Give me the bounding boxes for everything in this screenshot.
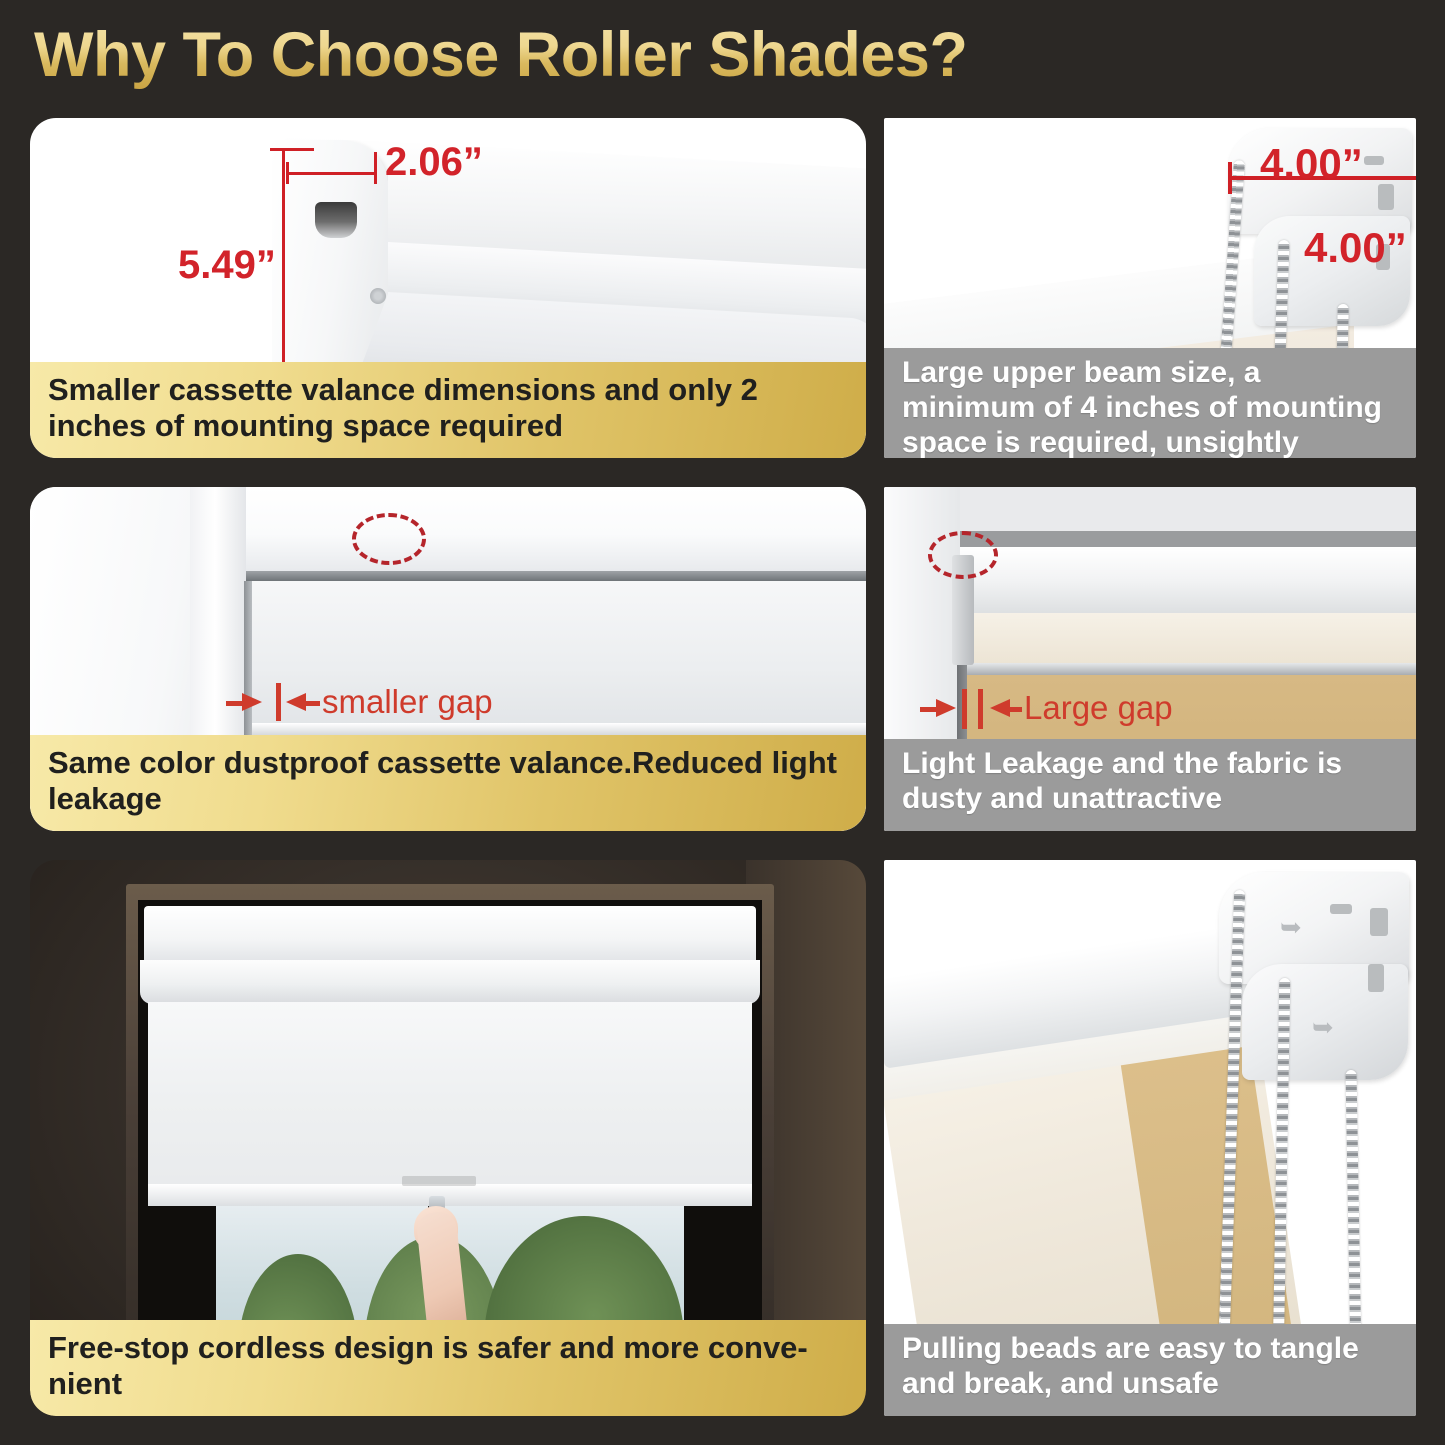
panel-3-caption-text: Same color dustproof cassette valance.Re… (48, 745, 848, 817)
panel-6-caption-text: Pulling beads are easy to tangle and bre… (902, 1332, 1398, 1402)
panel-light-leakage: Large gap Light Leakage and the fabric i… (884, 487, 1416, 831)
panel-small-cassette: 5.49” 2.06” Smaller cassette valance dim… (30, 118, 866, 458)
panel-6-caption: Pulling beads are easy to tangle and bre… (884, 1324, 1416, 1416)
valance-bottom (140, 960, 760, 1004)
panel-4-caption: Light Leakage and the fabric is dusty an… (884, 739, 1416, 831)
brand-logo (402, 1176, 476, 1186)
roller-shade-fabric (148, 1002, 752, 1198)
dimension-height-label: 5.49” (178, 243, 276, 288)
wall-top (884, 487, 1416, 531)
bracket-notch-2 (1378, 184, 1394, 210)
panel-3-caption: Same color dustproof cassette valance.Re… (30, 735, 866, 831)
shade-hem-bar (148, 1184, 752, 1206)
dim-width-tick-right (374, 152, 377, 184)
gap-arrow-right-icon (242, 693, 262, 711)
valance-head-rail (246, 571, 866, 581)
dim-width-tick-left (1228, 162, 1232, 194)
gap-arrow-left-icon (286, 693, 306, 711)
valance-top (144, 906, 756, 966)
bracket-arrow-icon-2: ➥ (1312, 1012, 1334, 1043)
dimension-width-label: 2.06” (385, 140, 483, 185)
dim-height-tick-top (270, 148, 314, 151)
panel-1-caption-text: Smaller cassette valance dimensions and … (48, 372, 848, 444)
page-title: Why To Choose Roller Shades? (34, 19, 967, 91)
header-bar: Why To Choose Roller Shades? (0, 0, 1445, 110)
dim-width-tick-left (286, 162, 289, 184)
gap-arrow-tail-right (1008, 707, 1022, 712)
bracket-arrow-icon-1: ➥ (1280, 912, 1302, 943)
end-cap-screw (370, 288, 386, 304)
gap-label: smaller gap (322, 683, 493, 721)
panel-pulling-beads: ➥ ➥ Pulling beads are easy to tangle and… (884, 860, 1416, 1416)
leakage-highlight-icon (928, 531, 998, 579)
dim-width-line (286, 172, 376, 175)
panel-cordless-design: Free-stop cordless design is safer and m… (30, 860, 866, 1416)
panel-4-caption-text: Light Leakage and the fabric is dusty an… (902, 747, 1398, 817)
dimension-height-label: 4.00” (1304, 224, 1407, 272)
gap-arrow-tail-right (304, 701, 320, 706)
panel-1-caption: Smaller cassette valance dimensions and … (30, 362, 866, 458)
gap-marker-bar-1 (962, 689, 967, 729)
gap-marker-bar (276, 683, 281, 721)
panel-large-beam: 4.00” 4.00” Large upper beam size, a min… (884, 118, 1416, 458)
shade-metal-edge (962, 663, 1416, 675)
gap-label: Large gap (1024, 689, 1173, 727)
window-frame-top (190, 487, 866, 573)
end-cap-slot (315, 202, 357, 238)
bracket-notch-1 (1330, 904, 1352, 914)
dimension-width-label: 4.00” (1260, 140, 1363, 188)
gap-arrow-left-icon (990, 699, 1010, 717)
bracket-notch-3 (1368, 964, 1384, 992)
bracket-notch-2 (1370, 908, 1388, 936)
panel-5-caption: Free-stop cordless design is safer and m… (30, 1320, 866, 1416)
panel-5-caption-text: Free-stop cordless design is safer and m… (48, 1330, 848, 1402)
gap-arrow-right-icon (936, 699, 956, 717)
bracket-notch-1 (1364, 156, 1384, 165)
dustproof-highlight-icon (352, 513, 426, 565)
dim-height-line (282, 148, 285, 394)
panel-dustproof-valance: smaller gap Same color dustproof cassett… (30, 487, 866, 831)
panel-2-caption: Large upper beam size, a minimum of 4 in… (884, 348, 1416, 458)
gap-marker-bar-2 (978, 689, 983, 729)
shade-fabric-cream (964, 613, 1416, 665)
panel-2-caption-text: Large upper beam size, a minimum of 4 in… (902, 356, 1398, 458)
